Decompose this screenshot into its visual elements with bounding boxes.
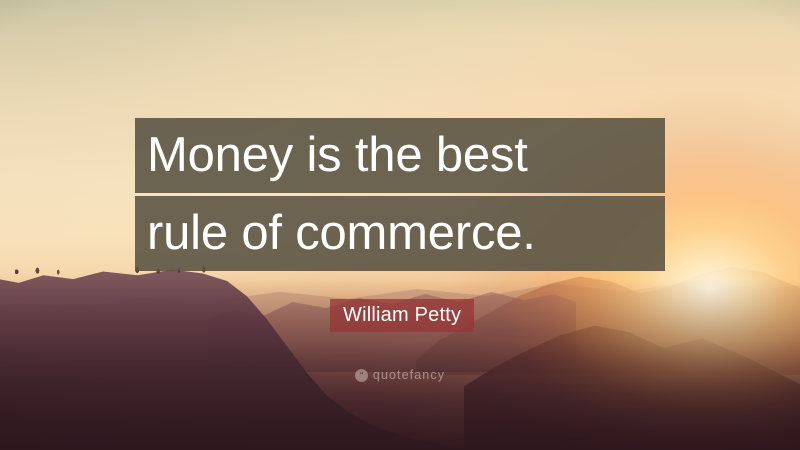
quotefancy-brand-text: quotefancy [373,368,445,382]
quotefancy-logo-icon: “ [355,369,368,382]
quote-card: Money is the best rule of commerce. Will… [0,0,800,450]
quote-text-block: Money is the best rule of commerce. [135,118,665,271]
quotefancy-logo-glyph: “ [360,372,363,379]
card-content: Money is the best rule of commerce. Will… [0,0,800,450]
author-attribution-badge: William Petty [330,299,474,332]
quote-line-1: Money is the best [135,118,665,193]
quotefancy-watermark[interactable]: “ quotefancy [0,368,800,382]
quote-line-2: rule of commerce. [135,196,665,271]
